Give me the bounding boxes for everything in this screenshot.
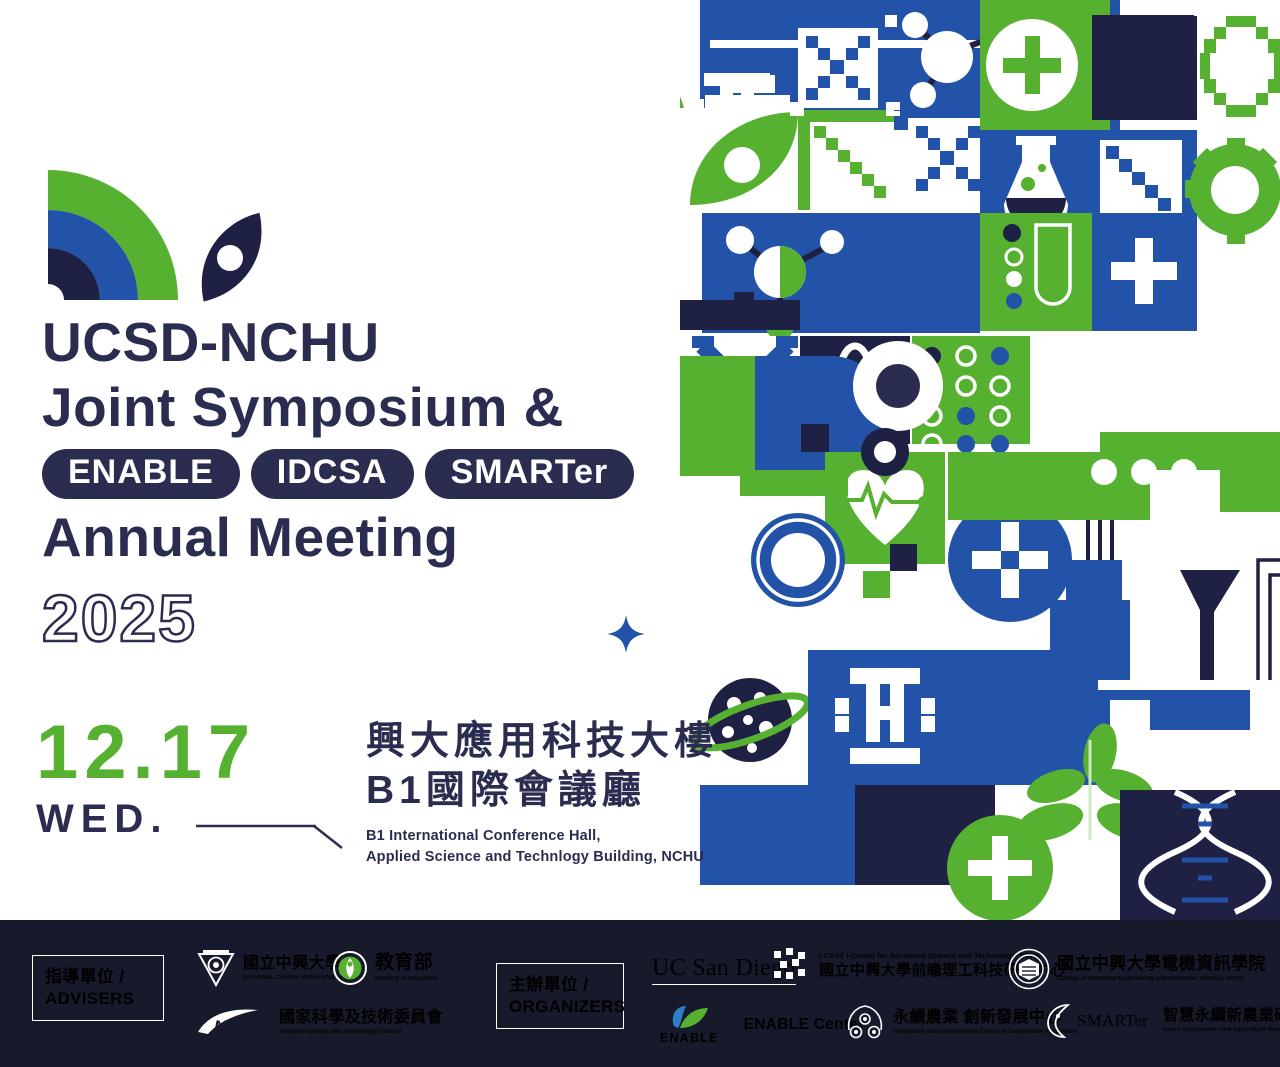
pill-enable: ENABLE <box>42 449 240 500</box>
logo-moe-en: Ministry of Education <box>375 976 438 984</box>
organizers-section-label: 主辦單位 / ORGANIZERS <box>496 963 624 1029</box>
arrow-icon <box>196 818 346 850</box>
title-line-3: Annual Meeting <box>42 505 782 570</box>
logo-enable: ENABLE ENABLE Center <box>660 1004 865 1045</box>
logo-nstc-cn: 國家科學及技術委員會 <box>279 1009 443 1027</box>
year-text: 2025 <box>42 582 782 655</box>
nstc-wordmark-icon: NSTC <box>196 1008 272 1038</box>
advisers-section-label: 指導單位 / ADVISERS <box>32 955 164 1021</box>
venue-block: 興大應用科技大樓 B1國際會議廳 B1 International Confer… <box>366 718 786 868</box>
logo-smarter-en: Smart Sustainable New Agriculture Resear… <box>1163 1027 1280 1035</box>
sponsor-footer <box>0 920 1280 1067</box>
organizers-label-cn: 主辦單位 / <box>509 974 611 996</box>
advisers-label-cn: 指導單位 / <box>45 966 151 988</box>
eecs-crest-icon <box>1008 948 1050 990</box>
logo-college-eecs: 國立中興大學電機資訊學院 College of Electrical Engin… <box>1008 948 1266 990</box>
organizers-label-en: ORGANIZERS <box>509 996 611 1018</box>
smarter-profile-icon <box>1046 1002 1074 1040</box>
logo-eecs-en: College of Electrical Engineering and Co… <box>1057 976 1266 984</box>
logo-ministry-of-education: 教育部 Ministry of Education <box>332 950 438 986</box>
nchu-crest-icon <box>196 950 236 988</box>
venue-en-line-1: B1 International Conference Hall, <box>366 826 786 847</box>
logo-smarter-abbr: SMARTer <box>1077 1011 1148 1031</box>
title-line-2: Joint Symposium & <box>42 375 782 440</box>
enable-leaf-icon <box>666 1004 712 1030</box>
logo-idcsa: 永續農業 創新發展中心 Innovation and Development C… <box>844 1002 1078 1044</box>
logo-smarter: SMARTer 智慧永續新農業研究發展中心 Smart Sustainable … <box>1046 1002 1280 1040</box>
logo-eecs-cn: 國立中興大學電機資訊學院 <box>1057 954 1266 974</box>
title-block: UCSD-NCHU Joint Symposium & ENABLE IDCSA… <box>42 310 782 655</box>
logo-nstc-en: National Science and Technology Council <box>279 1029 443 1037</box>
venue-cn-line-2: B1國際會議廳 <box>366 767 786 816</box>
title-line-1: UCSD-NCHU <box>42 310 782 375</box>
event-date: 12.17 <box>36 715 366 791</box>
idcsa-emblem-icon <box>844 1002 886 1044</box>
icast-dots-icon <box>772 947 812 983</box>
venue-en-line-2: Applied Science and Technlogy Building, … <box>366 847 786 868</box>
advisers-label-en: ADVISERS <box>45 988 151 1010</box>
pill-smarter: SMARTer <box>425 449 635 500</box>
sparkle-icon <box>604 612 648 656</box>
logo-nstc: NSTC 國家科學及技術委員會 National Science and Tec… <box>196 1008 443 1038</box>
moe-emblem-icon <box>332 950 368 986</box>
arc-leaf-brandmark <box>20 160 320 330</box>
program-pill-row: ENABLE IDCSA SMARTer <box>42 449 782 500</box>
poster-canvas: UCSD-NCHU Joint Symposium & ENABLE IDCSA… <box>0 0 1280 1067</box>
venue-cn-line-1: 興大應用科技大樓 <box>366 718 786 767</box>
logo-moe-cn: 教育部 <box>375 952 438 974</box>
pill-idcsa: IDCSA <box>251 449 414 500</box>
svg-text:NSTC: NSTC <box>214 1017 261 1036</box>
logo-enable-abbr: ENABLE <box>660 1031 719 1045</box>
logo-smarter-cn: 智慧永續新農業研究發展中心 <box>1163 1007 1280 1025</box>
